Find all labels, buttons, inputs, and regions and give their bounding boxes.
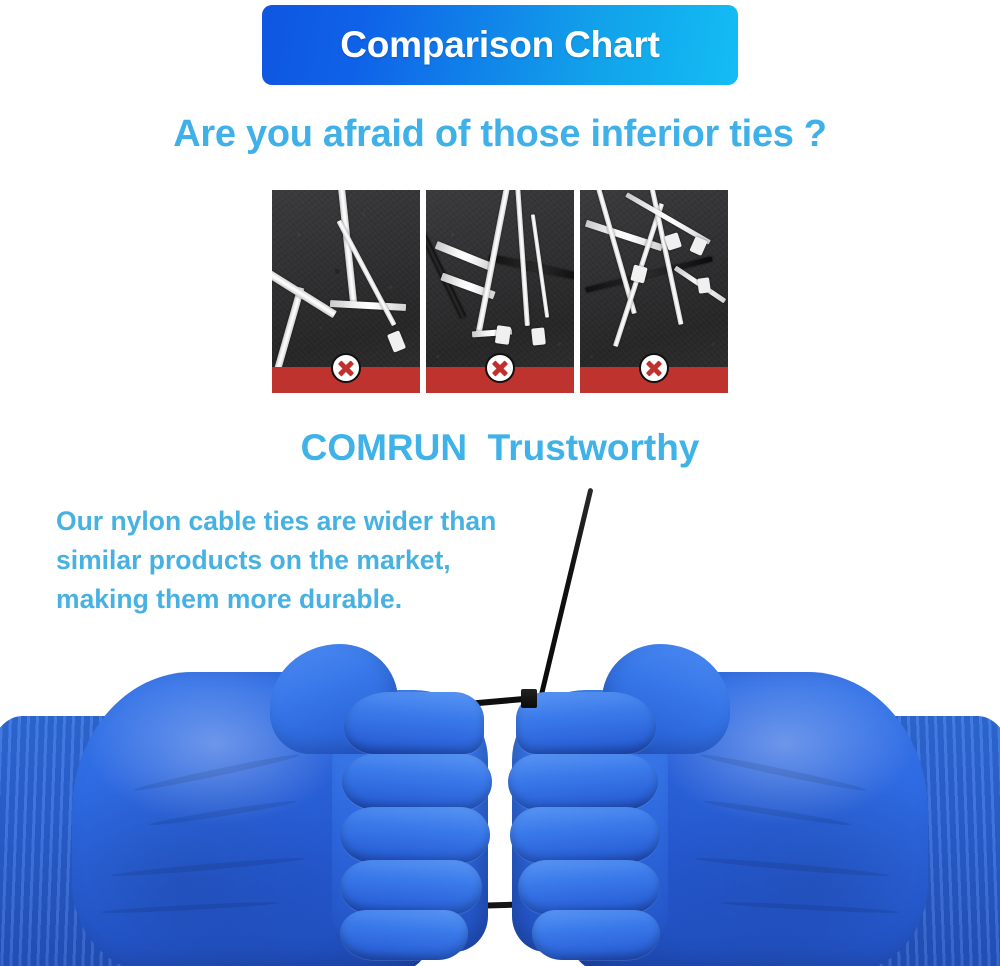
red-x-icon <box>485 353 515 383</box>
glove-finger <box>532 910 660 960</box>
glove-finger <box>510 807 660 863</box>
comparison-photo-panel <box>272 190 420 393</box>
body-copy-line: Our nylon cable ties are wider than <box>56 502 526 541</box>
comparison-photo-panel <box>426 190 574 393</box>
comparison-chart-banner: Comparison Chart <box>262 5 738 85</box>
glove-finger <box>340 860 482 914</box>
glove-finger <box>340 807 490 863</box>
tie-head <box>697 277 711 294</box>
comparison-photo-panel <box>580 190 728 393</box>
glove-finger <box>518 860 660 914</box>
banner-container: Comparison Chart <box>0 5 1000 85</box>
glove-finger <box>516 692 656 754</box>
cable-tie-head-lock <box>521 689 537 708</box>
headline-question: Are you afraid of those inferior ties ? <box>0 113 1000 156</box>
glove-finger <box>508 754 658 810</box>
body-copy-line: making them more durable. <box>56 580 526 619</box>
glove-finger <box>342 754 492 810</box>
tie-head <box>531 327 546 345</box>
red-x-icon <box>639 353 669 383</box>
tie-head <box>495 325 511 345</box>
glove-finger <box>340 910 468 960</box>
gloved-fist-left <box>0 636 494 966</box>
body-copy: Our nylon cable ties are wider than simi… <box>56 502 526 619</box>
red-x-icon <box>331 353 361 383</box>
comparison-photo-strip <box>272 190 728 393</box>
gloved-fist-right <box>506 636 1000 966</box>
brand-trustworthy-line: COMRUN Trustworthy <box>0 427 1000 469</box>
body-copy-line: similar products on the market, <box>56 541 526 580</box>
glove-finger <box>344 692 484 754</box>
